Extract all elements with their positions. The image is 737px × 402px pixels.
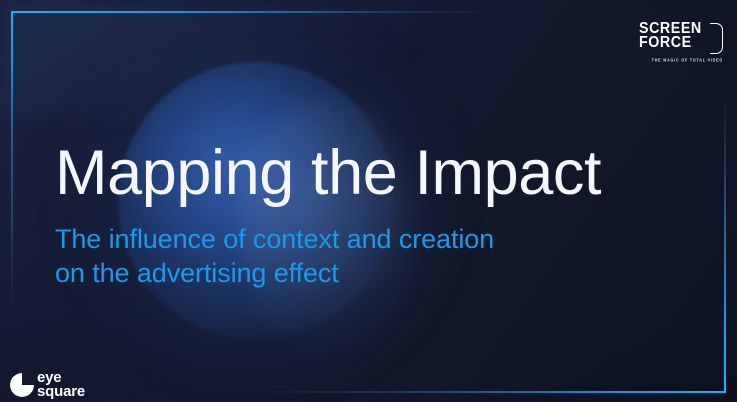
frame-line-right	[724, 11, 726, 393]
screenforce-bracket-icon	[710, 23, 723, 54]
eye-square-word-square: square	[37, 385, 85, 400]
screenforce-wordmark: SCREEN FORCE	[639, 22, 707, 51]
frame-line-left	[11, 11, 13, 393]
frame-line-top	[11, 11, 726, 13]
frame-line-bottom	[11, 391, 726, 393]
title-slide: Mapping the Impact The influence of cont…	[0, 0, 737, 402]
page-title: Mapping the Impact	[55, 139, 601, 207]
screenforce-logo-row: SCREEN FORCE	[639, 22, 723, 54]
page-subtitle-line-1: The influence of context and creation	[55, 222, 494, 256]
eye-square-wordmark: eye square	[37, 371, 85, 400]
eye-square-pie-circle-icon	[9, 372, 35, 398]
page-subtitle-line-2: on the advertising effect	[55, 256, 494, 290]
page-subtitle: The influence of context and creation on…	[55, 222, 494, 290]
screenforce-tagline: THE MAGIC OF TOTAL VIDEO	[639, 57, 723, 62]
screenforce-logo: SCREEN FORCE THE MAGIC OF TOTAL VIDEO	[639, 22, 723, 62]
eye-square-logo: eye square	[9, 371, 85, 400]
screenforce-word-force: FORCE	[639, 36, 702, 50]
